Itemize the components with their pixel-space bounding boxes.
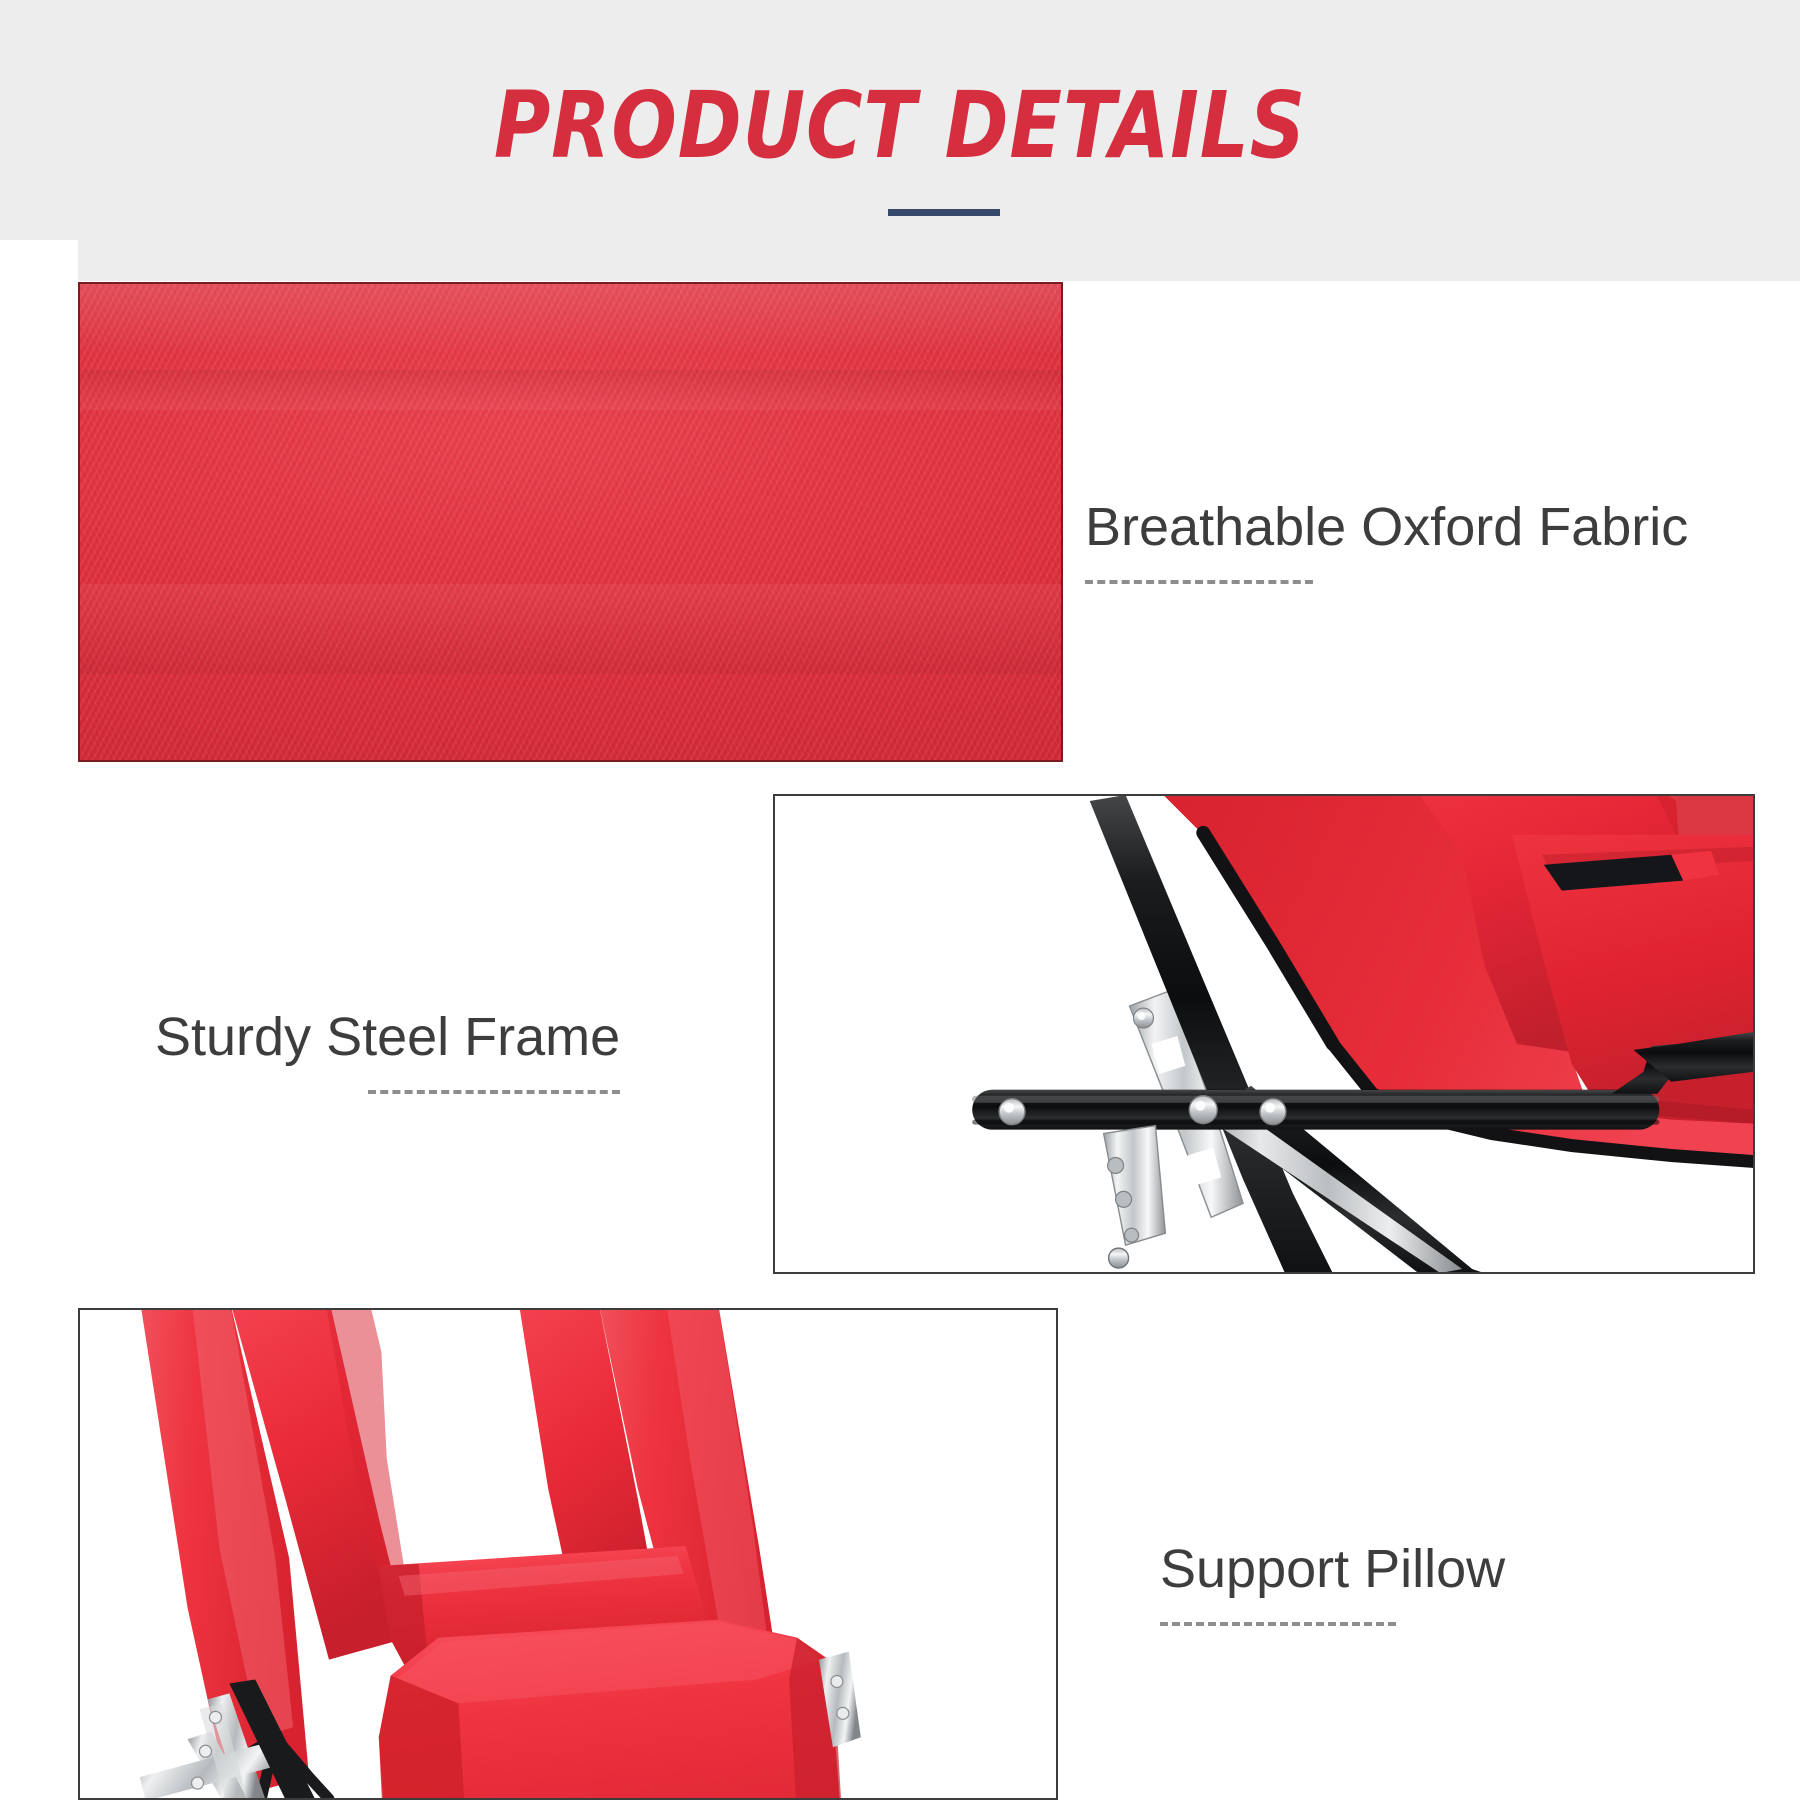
feature-label-support-pillow: Support Pillow — [1160, 1538, 1505, 1600]
title-underline-bar — [888, 209, 1000, 216]
frame-bolt-head — [1109, 1248, 1129, 1268]
feature-caption-support-pillow: Support Pillow — [1160, 1538, 1505, 1626]
steel-crossbar-horizontal — [972, 1090, 1659, 1130]
product-details-infographic: PRODUCT DETAILS Breathable Oxford Fabric — [0, 0, 1800, 1800]
header-notch — [0, 240, 78, 282]
support-pillow-illustration — [80, 1310, 1056, 1798]
fabric-fold-highlight-lower — [80, 584, 1061, 674]
feature-label-breathable-oxford-fabric: Breathable Oxford Fabric — [1085, 496, 1688, 558]
feature-label-sturdy-steel-frame: Sturdy Steel Frame — [155, 1006, 620, 1068]
feature-caption-sturdy-steel-frame: Sturdy Steel Frame — [155, 1006, 620, 1094]
support-pillow-image — [78, 1308, 1058, 1800]
fabric-swatch-image — [78, 282, 1063, 762]
caption-dashed-rule — [1160, 1622, 1396, 1626]
page-title: PRODUCT DETAILS — [63, 76, 1737, 176]
fabric-fold-highlight-top — [80, 284, 1061, 354]
fabric-fold-highlight-upper — [80, 370, 1061, 410]
caption-dashed-rule — [1085, 580, 1313, 584]
steel-frame-illustration — [775, 796, 1753, 1272]
main-support-pillow — [379, 1620, 845, 1798]
feature-caption-breathable-oxford-fabric: Breathable Oxford Fabric — [1085, 496, 1688, 584]
caption-dashed-rule — [368, 1090, 620, 1094]
steel-frame-image — [773, 794, 1755, 1274]
